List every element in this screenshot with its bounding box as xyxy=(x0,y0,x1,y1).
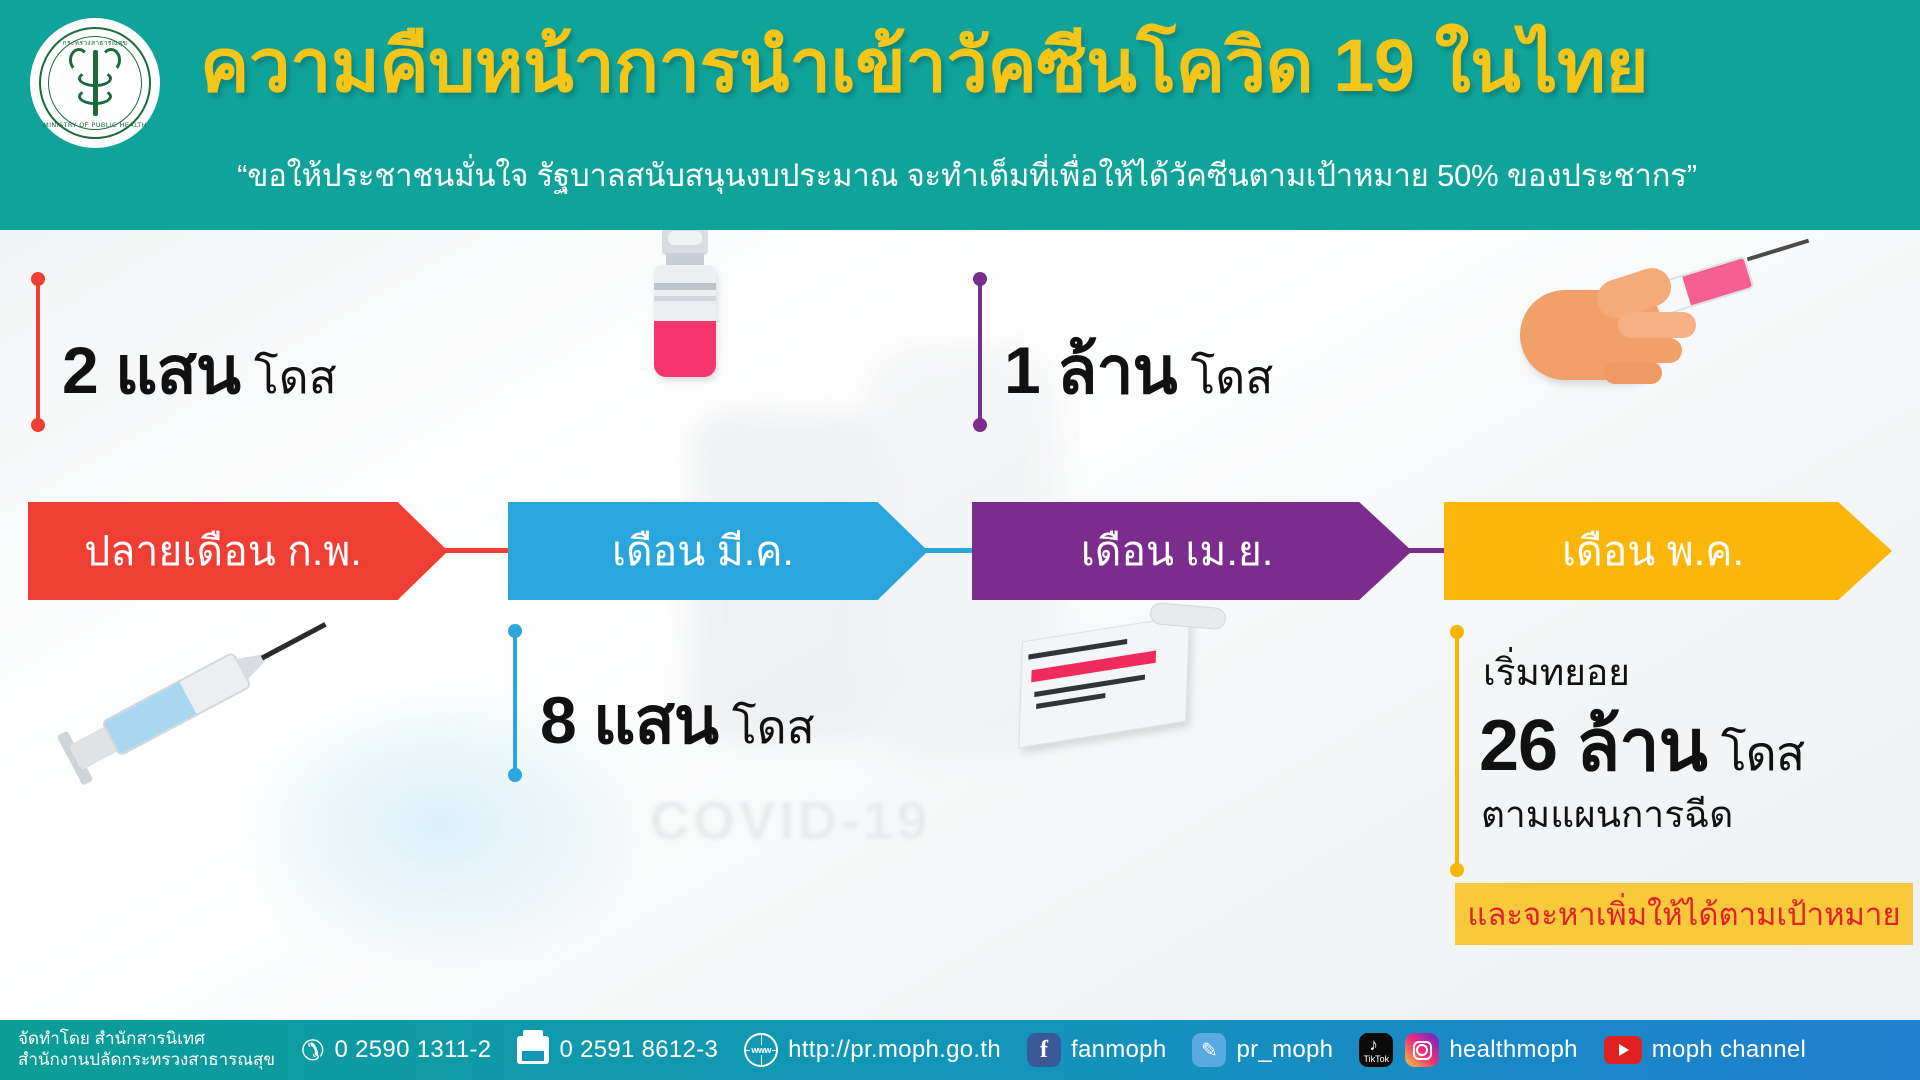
footer-instagram[interactable]: healthmoph xyxy=(1405,1033,1577,1067)
facebook-glyph: f xyxy=(1027,1033,1061,1067)
stat-feb-amount: 2 แสน xyxy=(62,333,240,407)
footer-fax-number: 0 2591 8612-3 xyxy=(559,1036,718,1064)
chevron-phase-apr[interactable]: เดือน เม.ย. xyxy=(972,502,1412,600)
chevron-phase-feb[interactable]: ปลายเดือน ก.พ. xyxy=(28,502,448,600)
seal-bottom-label: MINISTRY OF PUBLIC HEALTH xyxy=(41,121,149,129)
stat-apr-amount: 1 ล้าน xyxy=(1004,333,1177,407)
page-subtitle: “ขอให้ประชาชนมั่นใจ รัฐบาลสนับสนุนงบประม… xyxy=(22,150,1912,200)
footer-phone: ✆ 0 2590 1311-2 xyxy=(301,1034,491,1067)
footer-fax: 0 2591 8612-3 xyxy=(517,1036,718,1064)
header-banner: กระทรวงสาธารณสุข MINISTRY OF PUBLIC HEAL… xyxy=(0,0,1920,230)
marker-may-dot-bottom xyxy=(1450,863,1464,877)
www-label: www xyxy=(750,1045,772,1055)
chevron-phase-apr-label: เดือน เม.ย. xyxy=(1081,519,1304,584)
tiktok-icon[interactable]: TikTok xyxy=(1359,1033,1393,1067)
footer-phone-number: 0 2590 1311-2 xyxy=(335,1036,492,1064)
timeline-chevron-row: ปลายเดือน ก.พ. เดือน มี.ค. เดือน เม.ย. เ… xyxy=(0,502,1920,602)
marker-may-line xyxy=(1455,625,1459,870)
footer-website-url[interactable]: http://pr.moph.go.th xyxy=(788,1036,1001,1064)
youtube-icon[interactable] xyxy=(1604,1036,1642,1064)
vaccine-vial-icon xyxy=(640,230,730,385)
facebook-icon[interactable]: f xyxy=(1027,1033,1061,1067)
stat-feb: 2 แสนโดส xyxy=(62,318,337,423)
background-watermark-text: COVID-19 xyxy=(650,790,1070,852)
footer-credit-line2: สำนักงานปลัดกระทรวงสาธารณสุข xyxy=(18,1050,275,1071)
footer-credit: จัดทำโดย สำนักสารนิเทศ สำนักงานปลัดกระทร… xyxy=(18,1029,275,1070)
instagram-icon[interactable] xyxy=(1405,1033,1439,1067)
goal-banner: และจะหาเพิ่มให้ได้ตามเป้าหมาย xyxy=(1455,883,1913,945)
goal-banner-label: และจะหาเพิ่มให้ได้ตามเป้าหมาย xyxy=(1467,889,1900,939)
chevron-phase-may[interactable]: เดือน พ.ค. xyxy=(1444,502,1892,600)
hand-with-syringe-icon xyxy=(1500,250,1800,430)
globe-www-icon: www xyxy=(744,1033,778,1067)
footer-instagram-handle[interactable]: healthmoph xyxy=(1449,1036,1577,1064)
marker-feb xyxy=(31,272,45,432)
fax-icon xyxy=(517,1036,549,1064)
tiktok-label: TikTok xyxy=(1359,1033,1393,1067)
footer-facebook[interactable]: f fanmoph xyxy=(1027,1033,1167,1067)
chevron-phase-may-label: เดือน พ.ค. xyxy=(1562,519,1774,584)
stat-mar: 8 แสนโดส xyxy=(540,668,815,773)
footer-tiktok[interactable]: TikTok xyxy=(1359,1033,1393,1067)
stat-apr-unit: โดส xyxy=(1191,351,1274,403)
stat-feb-unit: โดส xyxy=(254,351,337,403)
ministry-of-public-health-seal-icon: กระทรวงสาธารณสุข MINISTRY OF PUBLIC HEAL… xyxy=(30,18,160,148)
footer-website[interactable]: www http://pr.moph.go.th xyxy=(744,1033,1001,1067)
stat-mar-amount: 8 แสน xyxy=(540,683,718,757)
stat-may-unit: โดส xyxy=(1721,728,1804,781)
page-title: ความคืบหน้าการนำเข้าวัคซีนโควิด 19 ในไทย xyxy=(200,22,1890,109)
stat-apr: 1 ล้านโดส xyxy=(1004,318,1273,423)
chevron-phase-mar[interactable]: เดือน มี.ค. xyxy=(508,502,928,600)
footer-credit-line1: จัดทำโดย สำนักสารนิเทศ xyxy=(18,1029,275,1050)
footer-facebook-handle[interactable]: fanmoph xyxy=(1071,1036,1167,1064)
seal-top-label: กระทรวงสาธารณสุข xyxy=(41,38,149,48)
stat-may-amount: 26 ล้าน xyxy=(1479,706,1707,786)
phone-icon: ✆ xyxy=(301,1034,324,1067)
infographic-canvas: COVID-19 2 แสนโดส xyxy=(0,230,1920,1020)
stat-may-bottom-text: ตามแผนการฉีด xyxy=(1481,785,1733,844)
chevron-phase-feb-label: ปลายเดือน ก.พ. xyxy=(84,519,392,584)
footer-twitter[interactable]: ✎ pr_moph xyxy=(1192,1033,1333,1067)
marker-apr xyxy=(973,272,987,432)
caduceus-icon xyxy=(69,46,121,120)
footer-youtube[interactable]: moph channel xyxy=(1604,1036,1806,1064)
footer-youtube-handle[interactable]: moph channel xyxy=(1652,1036,1806,1064)
marker-may-dot-top xyxy=(1450,625,1464,639)
twitter-icon[interactable]: ✎ xyxy=(1192,1033,1226,1067)
chevron-phase-mar-label: เดือน มี.ค. xyxy=(612,519,824,584)
footer-bar: จัดทำโดย สำนักสารนิเทศ สำนักงานปลัดกระทร… xyxy=(0,1020,1920,1080)
marker-mar xyxy=(508,624,522,782)
stat-mar-unit: โดส xyxy=(732,701,815,753)
footer-twitter-handle[interactable]: pr_moph xyxy=(1236,1036,1333,1064)
